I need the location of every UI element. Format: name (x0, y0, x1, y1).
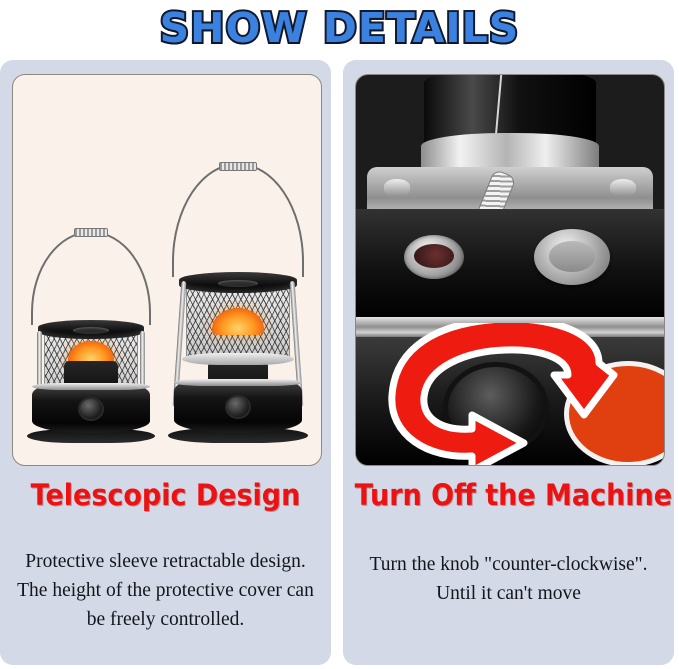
panel-body-text: Turn the knob "counter-clockwise". Until… (359, 550, 658, 608)
control-knob[interactable] (80, 399, 102, 419)
heater-control-knob-closeup-photo (355, 74, 665, 466)
mesh-floor-tray (182, 353, 294, 365)
wing-nut-right (610, 179, 636, 197)
top-deck (356, 209, 664, 319)
wire-handle (172, 163, 304, 277)
panel-telescopic-design: Telescopic Design Protective sleeve retr… (0, 60, 331, 665)
heater-retracted-illustration (21, 143, 161, 443)
control-knob[interactable] (227, 397, 249, 417)
top-cap (179, 272, 297, 293)
panel-heading: Telescopic Design (12, 478, 320, 512)
page-title: SHOW DETAILS (0, 0, 679, 56)
fuel-gauge (404, 235, 464, 279)
handle-grip (74, 228, 108, 237)
fuel-cap[interactable] (534, 229, 610, 285)
handle-grip (219, 162, 257, 171)
top-cap (38, 320, 144, 339)
panel-turn-off-the-machine: Turn Off the Machine Turn the knob "coun… (343, 60, 674, 665)
kerosene-heater-telescopic-comparison-photo (12, 74, 322, 466)
counter-clockwise-arrow (356, 323, 664, 466)
wire-handle (31, 231, 151, 325)
panel-body-text: Protective sleeve retractable design. Th… (16, 547, 315, 634)
panels-container: Telescopic Design Protective sleeve retr… (0, 60, 679, 669)
heater-extended-illustration (163, 91, 313, 443)
panel-heading: Turn Off the Machine (355, 478, 663, 512)
heater-top-assembly (356, 75, 664, 465)
wing-nut-left (384, 179, 410, 197)
